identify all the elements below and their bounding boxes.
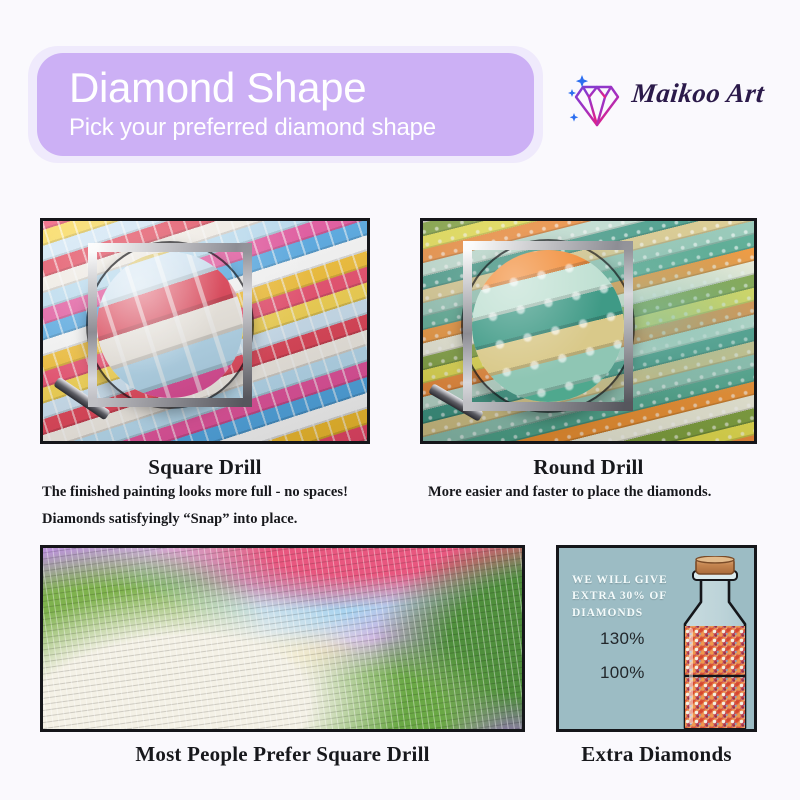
mosaic-bead-field <box>43 548 522 729</box>
brand-wordmark: Maikoo Art <box>630 78 766 109</box>
round-drill-title: Round Drill <box>420 455 757 480</box>
extra-diamonds-panel: WE WILL GIVE EXTRA 30% OF DIAMONDS 130% … <box>556 545 757 732</box>
square-drill-line-2: Diamonds satisfyingly “Snap” into place. <box>42 511 297 528</box>
round-drill-line-1: More easier and faster to place the diam… <box>428 484 711 501</box>
magnifier-icon <box>88 243 252 407</box>
header-banner: Diamond Shape Pick your preferred diamon… <box>37 53 534 156</box>
level-label-130: 130% <box>600 629 645 649</box>
brand-logo: Maikoo Art <box>566 70 788 132</box>
extra-diamonds-title: Extra Diamonds <box>556 742 757 767</box>
page-header: Diamond Shape Pick your preferred diamon… <box>0 0 800 178</box>
diamond-bottle-icon <box>663 556 757 732</box>
finished-mosaic-photo <box>40 545 525 732</box>
magnifier-icon <box>463 241 633 411</box>
round-drill-photo <box>420 218 757 444</box>
page-subtitle: Pick your preferred diamond shape <box>69 114 534 143</box>
diamond-gem-icon <box>566 70 628 132</box>
mosaic-title: Most People Prefer Square Drill <box>40 742 525 767</box>
square-drill-line-1: The finished painting looks more full - … <box>42 484 348 501</box>
square-drill-photo <box>40 218 370 444</box>
page-title: Diamond Shape <box>69 66 534 110</box>
square-drill-title: Square Drill <box>40 455 370 480</box>
level-label-100: 100% <box>600 663 645 683</box>
